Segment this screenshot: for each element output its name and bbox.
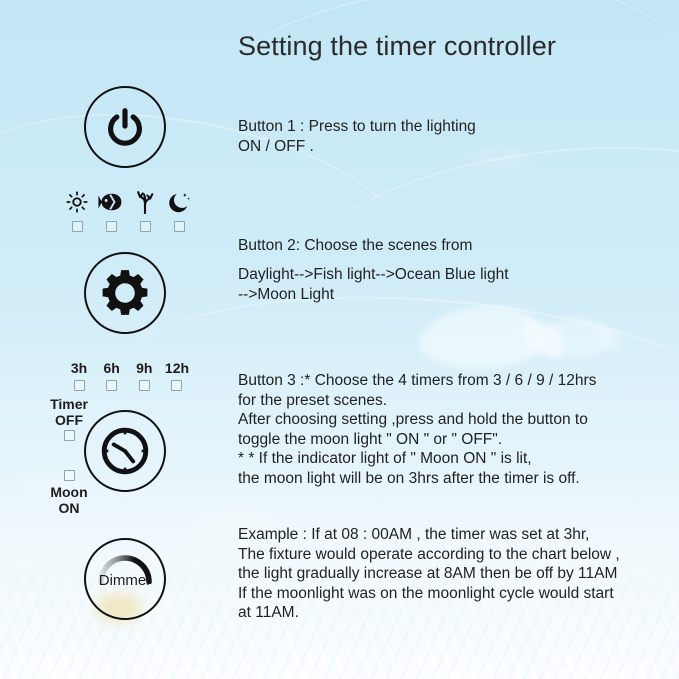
background-fish-icon — [420, 306, 546, 368]
instruction-panel: Setting the timer controller Button 1 : … — [0, 0, 679, 679]
timer-checkbox[interactable] — [171, 380, 182, 391]
button3-instruction: Button 3 :* Choose the 4 timers from 3 /… — [238, 371, 596, 488]
moon-icon — [168, 190, 191, 214]
timer-option-6h[interactable]: 6h — [97, 360, 127, 391]
scene-checkbox[interactable] — [174, 221, 185, 232]
timer-option-3h[interactable]: 3h — [64, 360, 94, 391]
fish-icon — [98, 190, 124, 214]
timer-off-indicator[interactable] — [64, 430, 75, 441]
clock-icon — [86, 412, 164, 490]
sun-icon — [66, 190, 88, 214]
page-title: Setting the timer controller — [238, 31, 556, 62]
timer-checkbox[interactable] — [139, 380, 150, 391]
example-instruction: Example : If at 08 : 00AM , the timer wa… — [238, 525, 620, 623]
power-icon — [86, 88, 164, 166]
power-button[interactable] — [84, 86, 166, 168]
timer-label: 12h — [165, 360, 189, 376]
dimmer-label: Dimmer — [84, 572, 166, 589]
timer-label: 3h — [71, 360, 87, 376]
moon-on-indicator[interactable] — [64, 470, 75, 481]
scene-select-button[interactable] — [84, 252, 166, 334]
timer-checkbox[interactable] — [106, 380, 117, 391]
scene-ocean-blue-light[interactable] — [132, 190, 158, 232]
button2-scene-flow: Daylight-->Fish light-->Ocean Blue light… — [238, 265, 509, 304]
scene-daylight[interactable] — [64, 190, 90, 232]
scene-checkbox[interactable] — [140, 221, 151, 232]
timer-label: 9h — [136, 360, 152, 376]
scene-moon-light[interactable] — [166, 190, 192, 232]
coral-icon — [133, 190, 157, 214]
timer-option-9h[interactable]: 9h — [129, 360, 159, 391]
scene-indicator-row — [64, 190, 192, 232]
button2-heading: Button 2: Choose the scenes from — [238, 236, 472, 256]
timer-button[interactable] — [84, 410, 166, 492]
scene-checkbox[interactable] — [106, 221, 117, 232]
background-fish-icon — [538, 318, 612, 358]
button1-instruction: Button 1 : Press to turn the lighting ON… — [238, 117, 476, 156]
timer-label: 6h — [103, 360, 119, 376]
timer-checkbox[interactable] — [74, 380, 85, 391]
scene-fish-light[interactable] — [98, 190, 124, 232]
gear-icon — [86, 254, 164, 332]
scene-checkbox[interactable] — [72, 221, 83, 232]
timer-hour-row: 3h 6h 9h 12h — [64, 360, 192, 391]
background-fish-icon — [470, 146, 524, 170]
timer-option-12h[interactable]: 12h — [162, 360, 192, 391]
